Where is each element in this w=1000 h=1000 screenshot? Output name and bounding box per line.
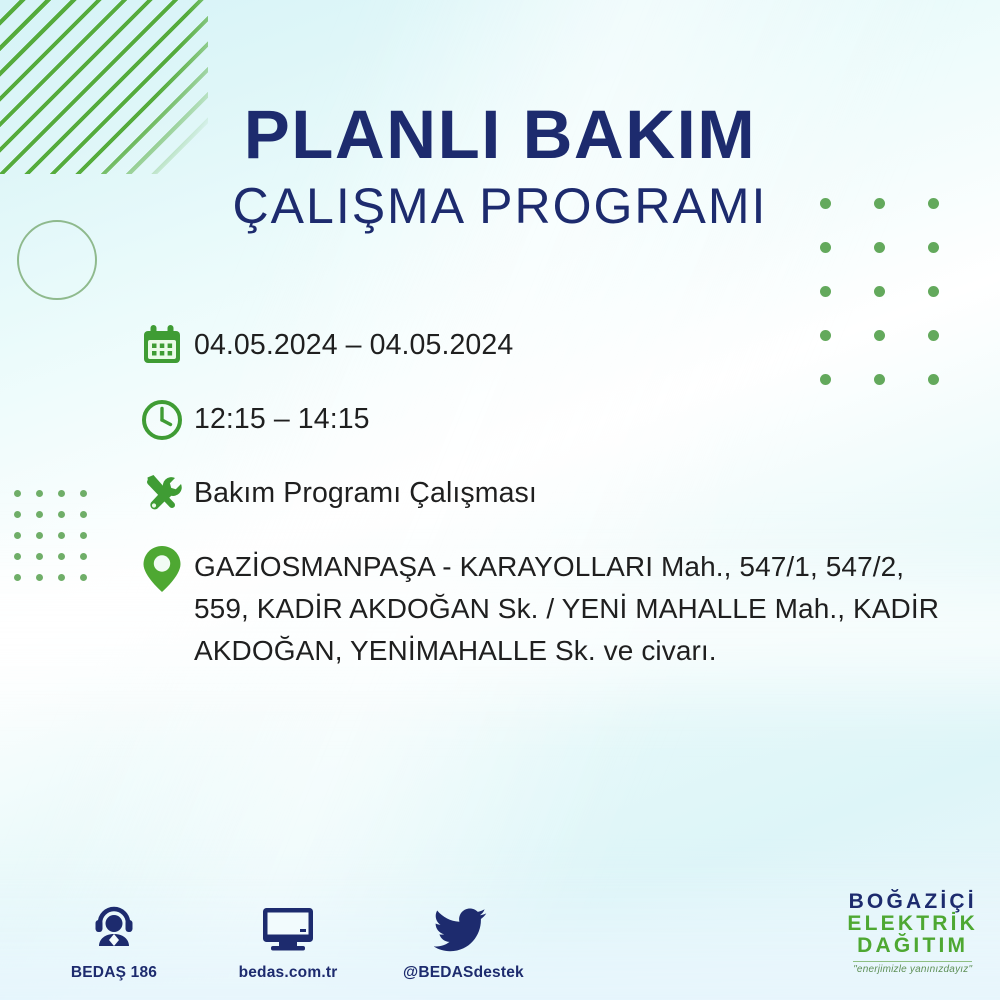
contact-phone[interactable]: BEDAŞ 186: [55, 901, 173, 982]
bedas-logo: BOĞAZİÇİ ELEKTRİK DAĞITIM "enerjimizle y…: [847, 891, 978, 976]
brand-line-elektrik: ELEKTRİK: [847, 913, 978, 935]
contact-phone-label: BEDAŞ 186: [55, 964, 173, 982]
brand-tagline: "enerjimizle yanınızdayız": [847, 965, 978, 976]
clock-icon: [130, 392, 194, 448]
brand-line-bogazici: BOĞAZİÇİ: [847, 891, 978, 913]
detail-row-work-type: Bakım Programı Çalışması: [130, 466, 960, 522]
detail-row-time: 12:15 – 14:15: [130, 392, 960, 448]
title-line-secondary: ÇALIŞMA PROGRAMI: [0, 177, 1000, 236]
calendar-icon: [130, 318, 194, 374]
twitter-bird-icon: [403, 901, 521, 955]
call-center-agent-icon: [55, 901, 173, 955]
contact-twitter-label: @BEDASdestek: [403, 964, 521, 982]
planned-maintenance-poster: PLANLI BAKIM ÇALIŞMA PROGRAMI: [0, 0, 1000, 1000]
footer-contacts: BEDAŞ 186 bedas.com.tr @BEDASdestek: [55, 901, 521, 982]
detail-row-date: 04.05.2024 – 04.05.2024: [130, 318, 960, 374]
dot-grid-decoration-left: [14, 490, 102, 595]
detail-date-text: 04.05.2024 – 04.05.2024: [194, 318, 513, 366]
brand-divider: [853, 961, 972, 962]
title-line-primary: PLANLI BAKIM: [0, 100, 1000, 169]
detail-time-text: 12:15 – 14:15: [194, 392, 370, 440]
contact-website[interactable]: bedas.com.tr: [229, 901, 347, 982]
contact-website-label: bedas.com.tr: [229, 964, 347, 982]
maintenance-details: 04.05.2024 – 04.05.2024 12:15 – 14:15: [130, 318, 960, 672]
tools-icon: [130, 466, 194, 522]
detail-row-location: GAZİOSMANPAŞA - KARAYOLLARI Mah., 547/1,…: [130, 540, 960, 672]
location-pin-icon: [130, 540, 194, 600]
detail-work-type-text: Bakım Programı Çalışması: [194, 466, 537, 514]
monitor-icon: [229, 901, 347, 955]
contact-twitter[interactable]: @BEDASdestek: [403, 901, 521, 982]
detail-location-text: GAZİOSMANPAŞA - KARAYOLLARI Mah., 547/1,…: [194, 540, 960, 672]
page-title: PLANLI BAKIM ÇALIŞMA PROGRAMI: [0, 100, 1000, 236]
brand-line-dagitim: DAĞITIM: [847, 935, 978, 957]
